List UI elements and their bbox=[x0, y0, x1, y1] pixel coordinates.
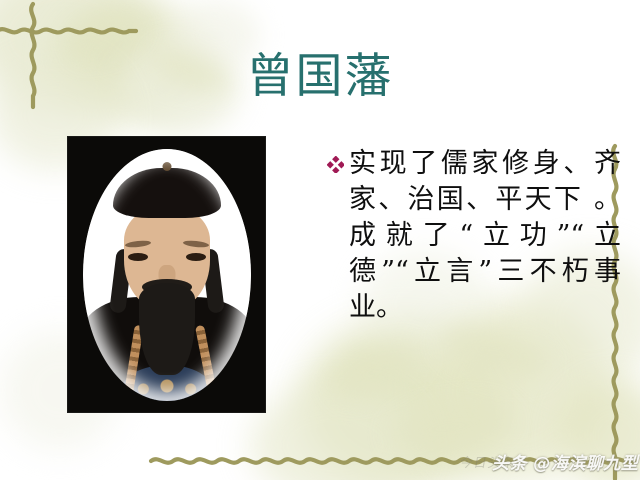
zeng-guofan-portrait-image bbox=[68, 137, 265, 412]
portrait-oval-vignette bbox=[83, 149, 251, 401]
watermark-author: 头条 @海滨聊九型 bbox=[492, 449, 638, 474]
slide-canvas: 曾国藩 bbox=[0, 0, 640, 480]
bullet-list-item: 实现了儒家修身、齐家、治国、平天下 。成就了“立功”“立德”“立言”三不朽事业。 bbox=[325, 146, 621, 326]
page-title: 曾国藩 bbox=[0, 52, 640, 101]
bullet-text: 实现了儒家修身、齐家、治国、平天下 。成就了“立功”“立德”“立言”三不朽事业。 bbox=[349, 146, 621, 326]
wave-line-horizontal-top-icon bbox=[0, 22, 138, 38]
body-content-block: 实现了儒家修身、齐家、治国、平天下 。成就了“立功”“立德”“立言”三不朽事业。 bbox=[325, 146, 621, 326]
diamond-cluster-bullet-icon bbox=[325, 146, 347, 180]
